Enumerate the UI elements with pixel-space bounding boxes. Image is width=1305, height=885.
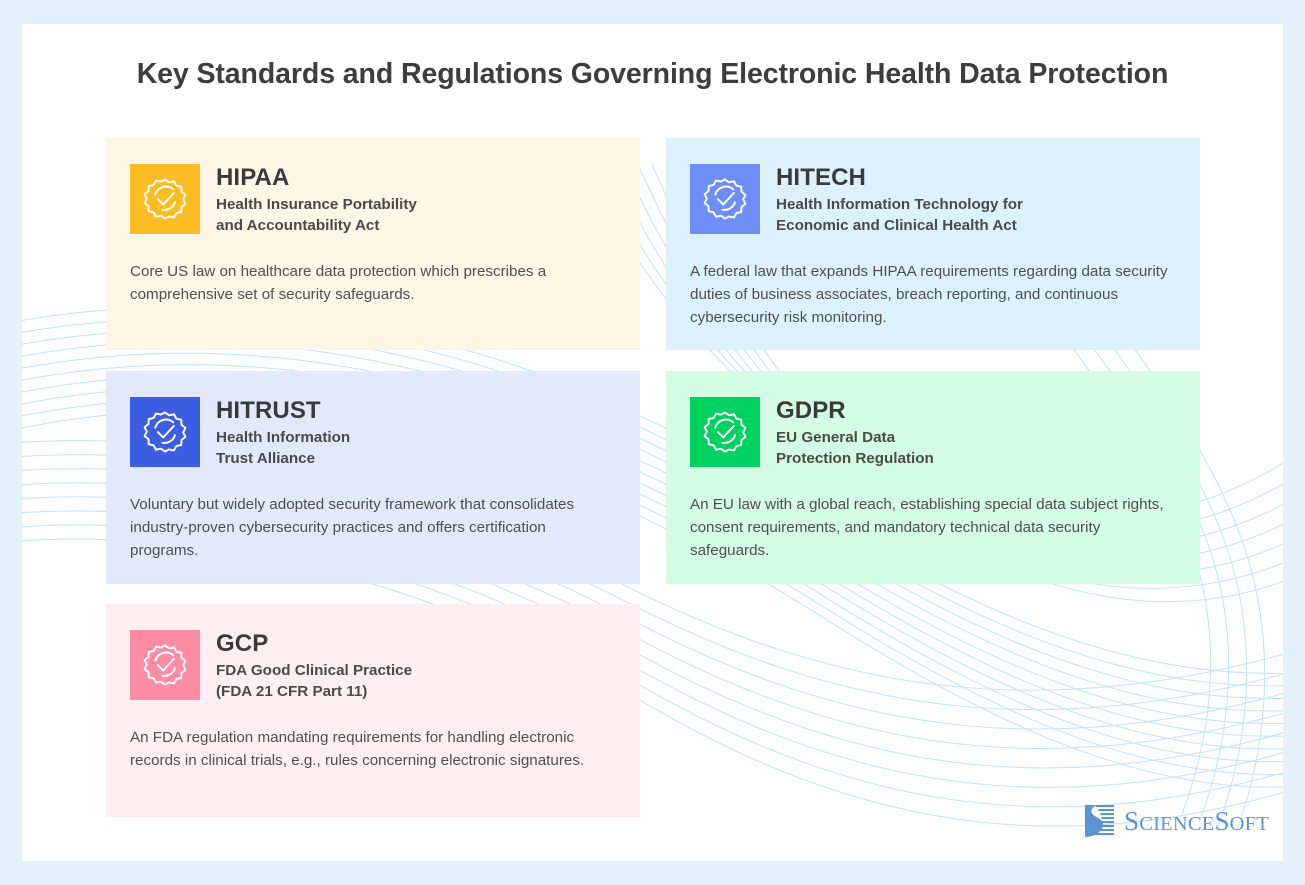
card-heading-text: HIPAA Health Insurance Portability and A… [216,164,417,237]
card-subtitle-line-2: Trust Alliance [216,448,350,470]
card-subtitle-line-2: (FDA 21 CFR Part 11) [216,681,412,703]
sciencesoft-logo-text: SCIENCESOFT [1124,808,1269,835]
card-subtitle-line-1: Health Information [216,427,350,449]
sciencesoft-logo: SCIENCESOFT [1083,804,1269,838]
card-title: GDPR [776,398,934,425]
card-title: HITECH [776,165,1023,192]
card-gdpr: GDPR EU General Data Protection Regulati… [666,371,1200,584]
card-gcp: GCP FDA Good Clinical Practice (FDA 21 C… [106,604,640,817]
card-description: An FDA regulation mandating requirements… [130,727,610,773]
card-title: HITRUST [216,398,350,425]
card-subtitle-line-1: EU General Data [776,427,934,449]
card-subtitle: Health Insurance Portability and Account… [216,194,417,237]
card-description: Voluntary but widely adopted security fr… [130,494,610,562]
card-subtitle-line-1: Health Information Technology for [776,194,1023,216]
card-subtitle-line-2: Protection Regulation [776,448,934,470]
badge-check-icon [130,164,200,234]
card-hitech: HITECH Health Information Technology for… [666,138,1200,350]
card-description: A federal law that expands HIPAA require… [690,261,1170,329]
logo-text-cience: CIENCE [1139,813,1214,835]
card-header: HIPAA Health Insurance Portability and A… [130,164,612,237]
badge-check-icon [690,397,760,467]
card-title: HIPAA [216,165,417,192]
card-description: An EU law with a global reach, establish… [690,494,1170,562]
card-description: Core US law on healthcare data protectio… [130,261,610,307]
card-title: GCP [216,631,412,658]
card-hitrust: HITRUST Health Information Trust Allianc… [106,371,640,584]
logo-text-oft: OFT [1230,813,1269,835]
card-header: GCP FDA Good Clinical Practice (FDA 21 C… [130,630,612,703]
card-hipaa: HIPAA Health Insurance Portability and A… [106,138,640,350]
card-subtitle-line-2: and Accountability Act [216,215,417,237]
card-subtitle: Health Information Technology for Econom… [776,194,1023,237]
card-subtitle: FDA Good Clinical Practice (FDA 21 CFR P… [216,660,412,703]
logo-text-s1: S [1124,806,1139,836]
card-header: GDPR EU General Data Protection Regulati… [690,397,1172,470]
badge-check-icon [690,164,760,234]
infographic-panel: Key Standards and Regulations Governing … [22,24,1283,861]
card-heading-text: GCP FDA Good Clinical Practice (FDA 21 C… [216,630,412,703]
badge-check-icon [130,397,200,467]
card-heading-text: HITRUST Health Information Trust Allianc… [216,397,350,470]
card-header: HITRUST Health Information Trust Allianc… [130,397,612,470]
card-header: HITECH Health Information Technology for… [690,164,1172,237]
card-subtitle: EU General Data Protection Regulation [776,427,934,470]
card-subtitle-line-2: Economic and Clinical Health Act [776,215,1023,237]
card-heading-text: HITECH Health Information Technology for… [776,164,1023,237]
page-title: Key Standards and Regulations Governing … [22,58,1283,91]
logo-text-s2: S [1214,806,1229,836]
card-heading-text: GDPR EU General Data Protection Regulati… [776,397,934,470]
badge-check-icon [130,630,200,700]
sciencesoft-logo-mark [1083,804,1115,838]
card-subtitle: Health Information Trust Alliance [216,427,350,470]
card-subtitle-line-1: FDA Good Clinical Practice [216,660,412,682]
card-subtitle-line-1: Health Insurance Portability [216,194,417,216]
